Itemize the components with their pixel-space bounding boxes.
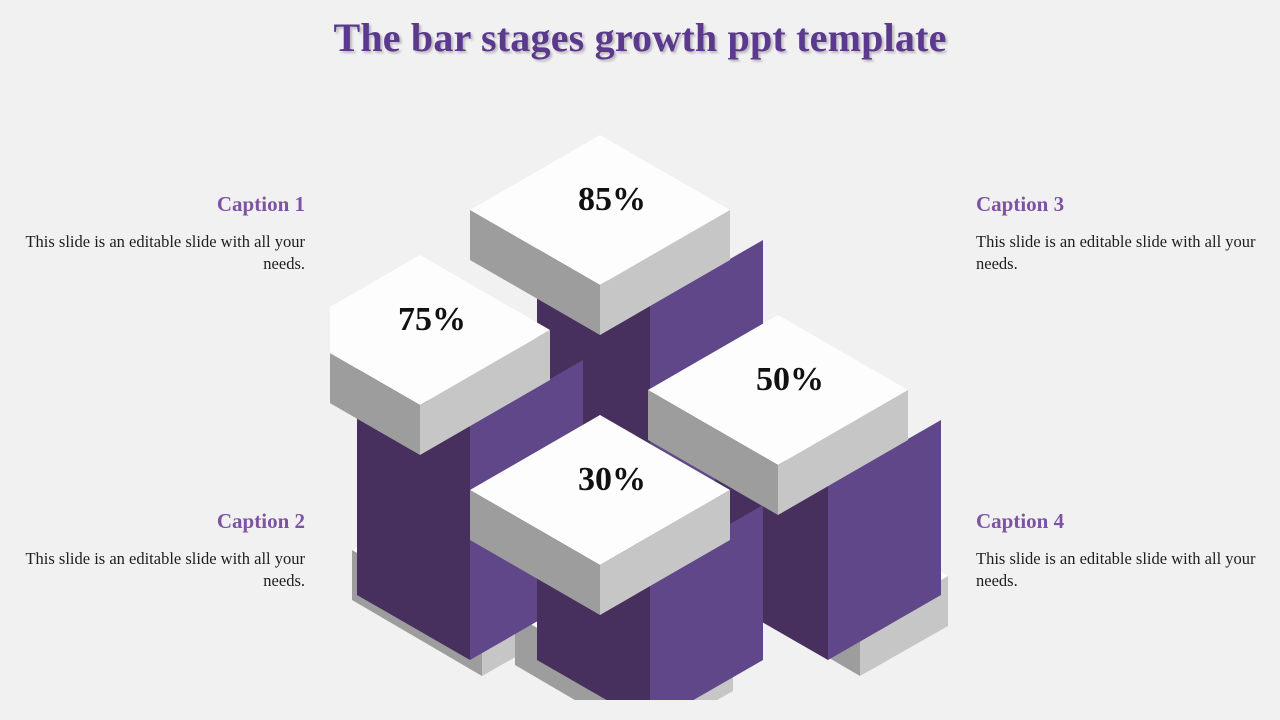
caption-2-heading: Caption 2 <box>5 509 305 534</box>
caption-block-2: Caption 2 This slide is an editable slid… <box>5 509 305 592</box>
caption-1-body: This slide is an editable slide with all… <box>5 231 305 275</box>
caption-block-1: Caption 1 This slide is an editable slid… <box>5 192 305 275</box>
caption-block-4: Caption 4 This slide is an editable slid… <box>976 509 1276 592</box>
caption-4-body: This slide is an editable slide with all… <box>976 548 1276 592</box>
isometric-bar-diagram: 85% 75% 50% 30% <box>330 100 970 700</box>
slide-canvas: The bar stages growth ppt template Capti… <box>0 0 1280 720</box>
bar-50-value-label: 50% <box>756 361 824 398</box>
caption-1-heading: Caption 1 <box>5 192 305 217</box>
caption-block-3: Caption 3 This slide is an editable slid… <box>976 192 1276 275</box>
caption-3-body: This slide is an editable slide with all… <box>976 231 1276 275</box>
caption-3-heading: Caption 3 <box>976 192 1276 217</box>
caption-4-heading: Caption 4 <box>976 509 1276 534</box>
page-title: The bar stages growth ppt template <box>0 14 1280 61</box>
caption-2-body: This slide is an editable slide with all… <box>5 548 305 592</box>
bar-85-value-label: 85% <box>578 181 646 218</box>
bar-75-value-label: 75% <box>398 301 466 338</box>
bar-30-value-label: 30% <box>578 461 646 498</box>
